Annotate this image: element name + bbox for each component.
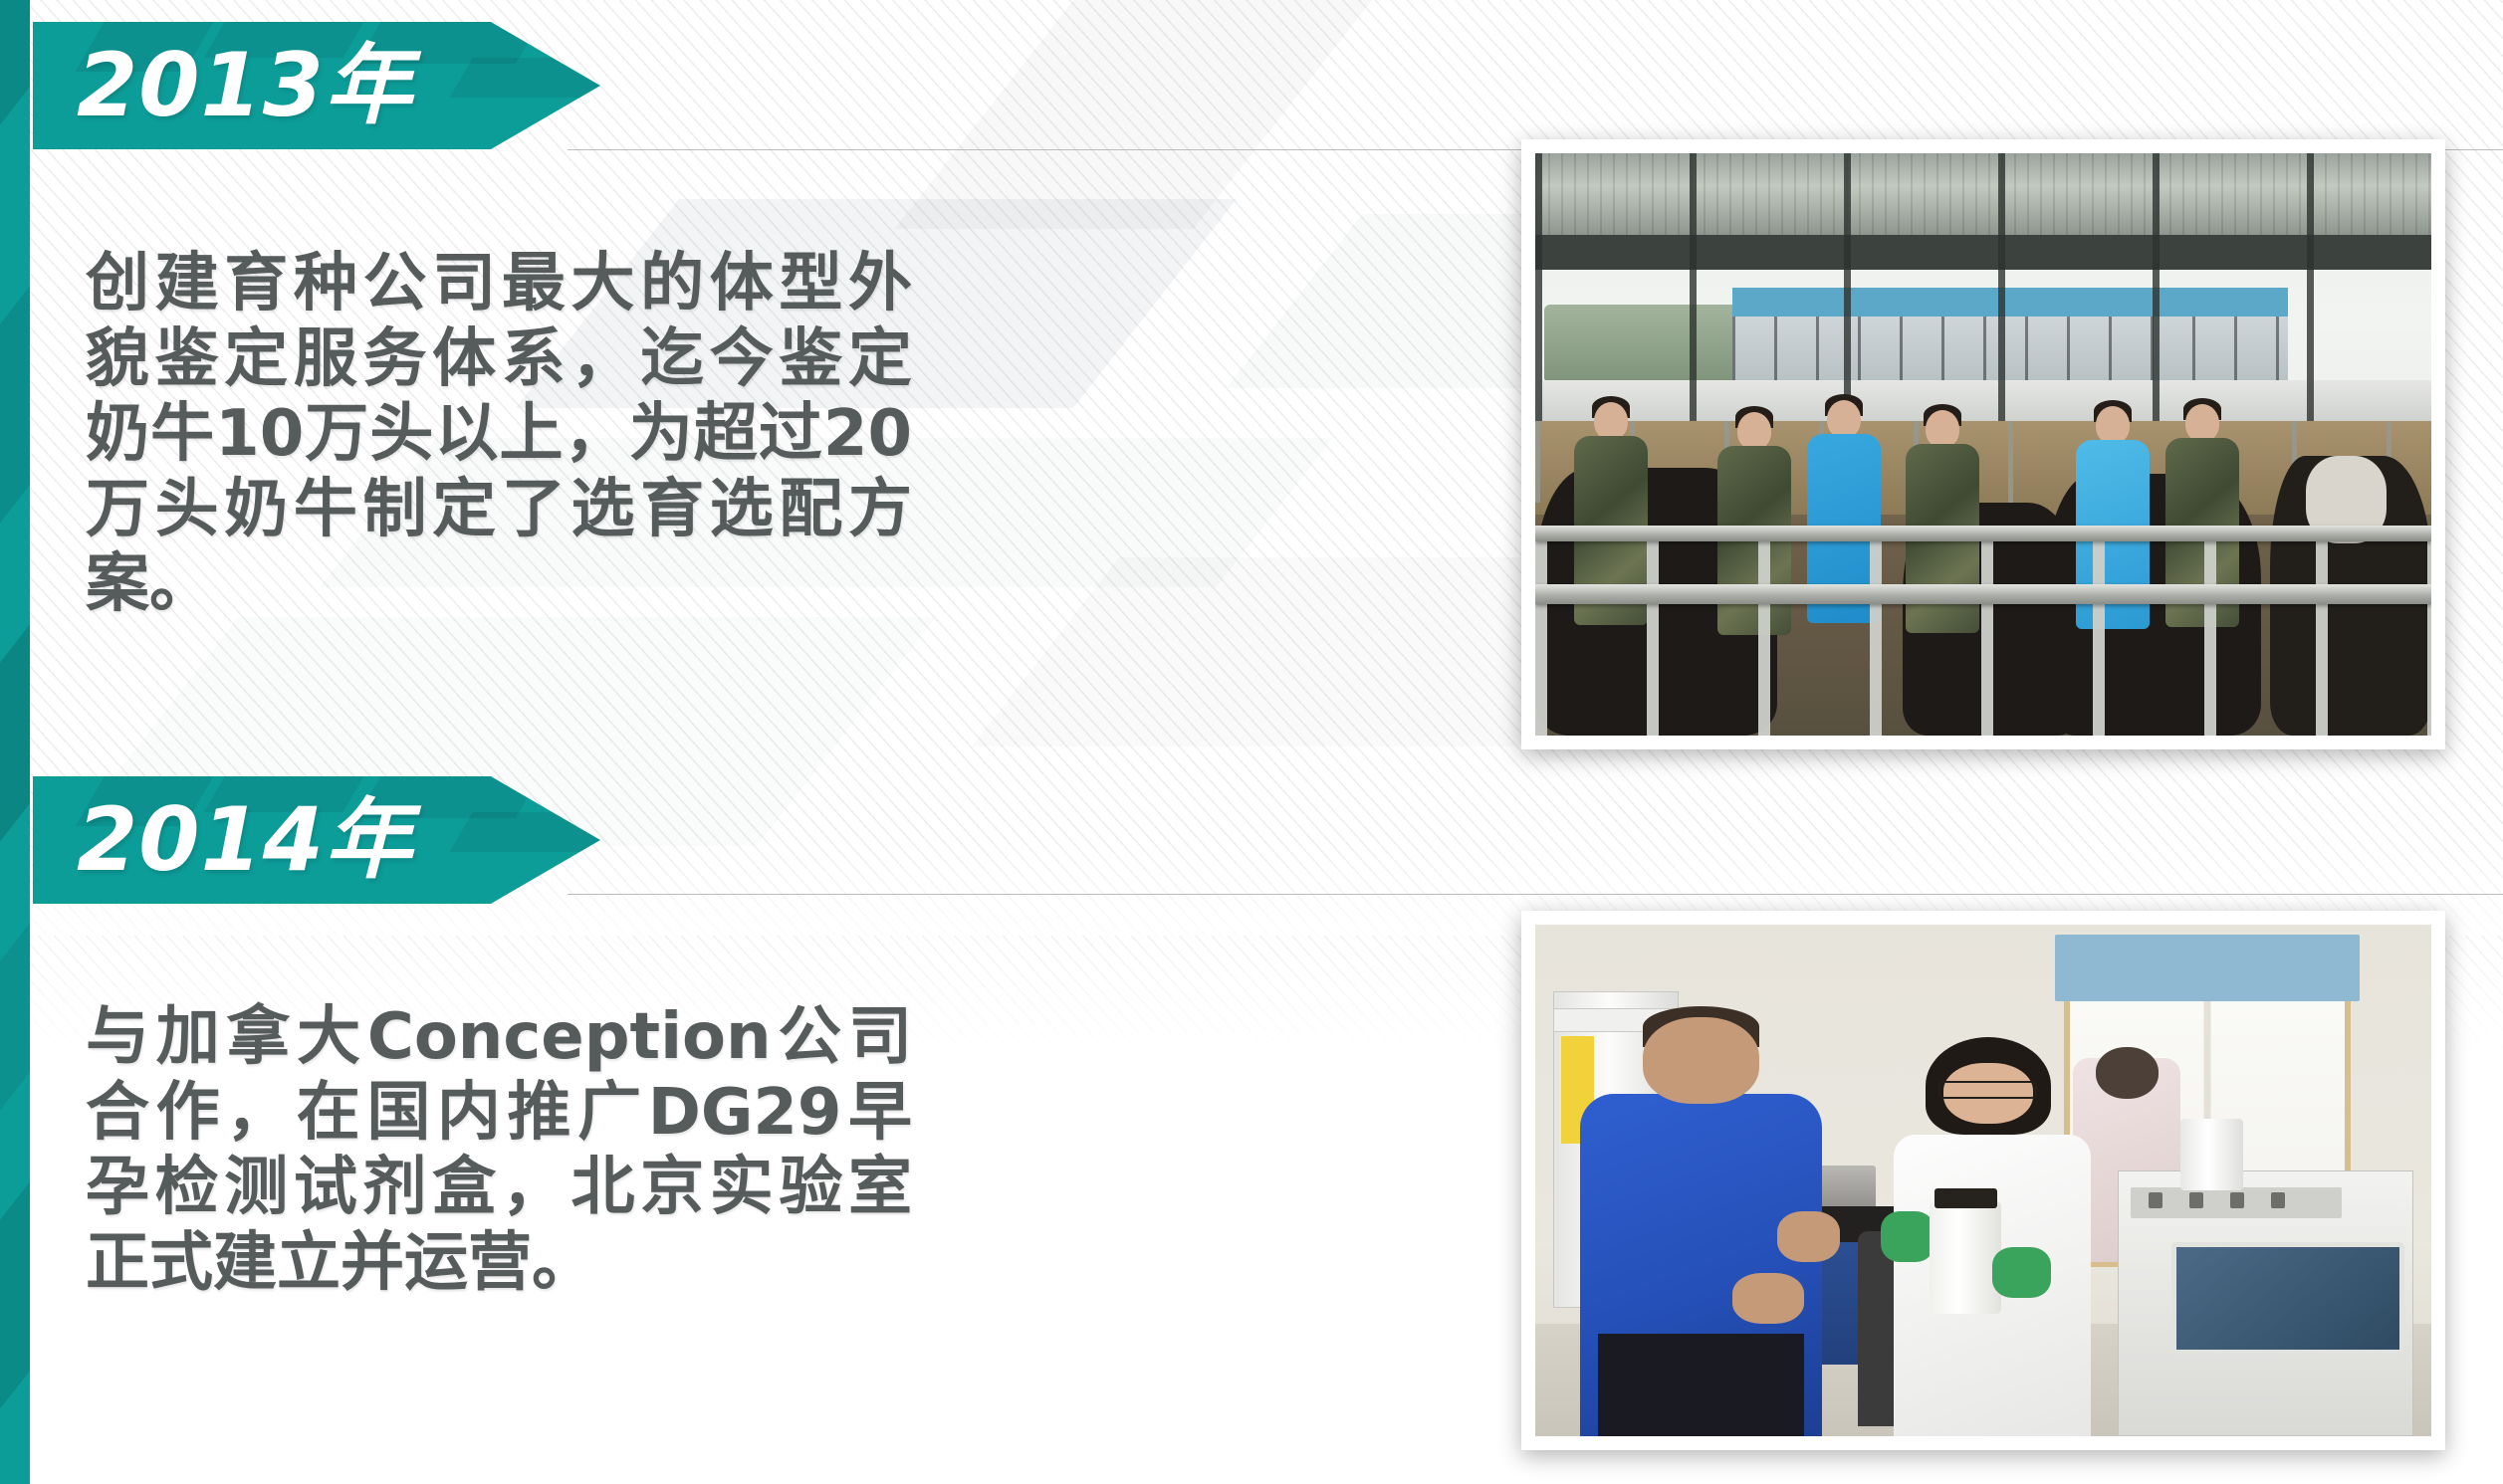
inspector-person-1 [1571, 402, 1651, 631]
laboratory-meeting-photo [1521, 911, 2445, 1450]
person-torso [1574, 436, 1648, 625]
year-label-2014: 2014年 [77, 796, 413, 884]
body-text-2014: 与加拿大Conception公司合作，在国内推广DG29早孕检测试剂盒，北京实验… [86, 1000, 912, 1301]
timeline-slide: 2013年 创建育种公司最大的体型外貌鉴定服务体系，迄今鉴定奶牛10万头以上，为… [0, 0, 2503, 1484]
green-glove-right [1992, 1247, 2051, 1298]
body-text-2013: 创建育种公司最大的体型外貌鉴定服务体系，迄今鉴定奶牛10万头以上，为超过20万头… [86, 247, 912, 623]
lab-white-container [2180, 1119, 2243, 1190]
lab-window [2064, 951, 2351, 1268]
person-torso [1906, 444, 1979, 633]
lab-analyzer-port-4 [2271, 1192, 2285, 1208]
barn-ground [1535, 421, 2431, 736]
year-banner-2013: 2013年 [33, 22, 600, 149]
person-head [1737, 412, 1771, 450]
barn-roof [1535, 153, 2431, 238]
blue-shirt-man-legs [1598, 1334, 1804, 1436]
barn-sky [1535, 153, 2431, 421]
barn-trees [1544, 305, 1759, 380]
barn-fence-rail-middle [1535, 584, 2431, 604]
green-glove-left [1881, 1211, 1934, 1262]
lab-window-mullion [2204, 956, 2211, 1262]
person-hair [2094, 400, 2132, 422]
lab-analyzer-machine [2118, 1170, 2413, 1436]
barn-low-wall [1535, 380, 2431, 423]
blue-shirt-man-hand-lower [1732, 1273, 1804, 1324]
inspector-person-5 [2073, 406, 2153, 631]
person-hair [1735, 406, 1773, 428]
lab-bench-top [1670, 1206, 1921, 1252]
banner-facet-4 [449, 58, 600, 98]
barn-distant-shed [1732, 317, 2288, 382]
blue-shirt-man-hair [1643, 1006, 1759, 1047]
lab-floor [1535, 1324, 2431, 1436]
cattle-barn-inspection-photo [1521, 139, 2445, 749]
blue-shirt-man-hand-upper [1777, 1211, 1840, 1262]
inspector-person-2 [1714, 412, 1794, 631]
person-head [2096, 406, 2130, 444]
person-torso [2165, 438, 2239, 627]
lab-chair [1858, 1231, 1930, 1425]
lab-coat-woman-torso [1894, 1135, 2091, 1436]
laboratory-photo-canvas [1535, 925, 2431, 1436]
lab-analyzer-panel [2131, 1187, 2342, 1219]
person-head [2185, 404, 2219, 442]
lab-window-blind [2055, 935, 2360, 1001]
background-polygon-2 [894, 0, 1395, 229]
lab-monitor-screen [2171, 1242, 2404, 1355]
person-hair [2183, 398, 2221, 420]
person-head [1827, 400, 1861, 438]
inspector-person-6 [2162, 404, 2242, 631]
person-hair [1825, 394, 1863, 416]
cattle-barn-photo-canvas [1535, 153, 2431, 736]
blue-shirt-man-head [1643, 1017, 1759, 1104]
person-head [1594, 402, 1628, 440]
barn-distant-shed-posts [1732, 317, 2288, 380]
banner-facet-4 [449, 812, 600, 852]
accent-bar-facet-5 [0, 1144, 30, 1434]
lab-coat-woman-hair [1926, 1037, 2051, 1135]
person-torso [1717, 446, 1791, 635]
lab-analyzer-port-3 [2230, 1192, 2244, 1208]
lab-blue-cabinet [1670, 1242, 1903, 1365]
person-torso [1807, 434, 1881, 623]
accent-bar-facet-4 [0, 885, 30, 1136]
year-label-2013: 2013年 [77, 42, 413, 129]
lab-printer [1732, 1166, 1876, 1211]
dairy-cow-4 [2270, 456, 2431, 736]
barn-truss-beam [1535, 235, 2431, 270]
year-banner-2014: 2014年 [33, 776, 600, 904]
dairy-cow-1 [1535, 468, 1777, 736]
blue-shirt-man-torso [1580, 1094, 1822, 1436]
white-reagent-bottle [1930, 1201, 2001, 1314]
dairy-cow-3 [2046, 474, 2261, 736]
person-hair [1924, 404, 1961, 426]
lab-coat-woman-glasses [1938, 1081, 2037, 1099]
divider-line-2014 [568, 894, 2503, 895]
accent-bar-facet-3 [0, 586, 30, 867]
inspector-person-4 [1903, 410, 1982, 631]
lab-analyzer-port-1 [2149, 1192, 2162, 1208]
inspector-person-3 [1804, 400, 1884, 631]
lab-analyzer-port-2 [2189, 1192, 2203, 1208]
barn-fence-rail-top [1535, 526, 2431, 541]
person-torso [2076, 440, 2150, 629]
lab-refrigerator [1553, 991, 1679, 1309]
background-person-torso [2073, 1058, 2180, 1263]
lab-refrigerator-label [1554, 1008, 1678, 1032]
lab-coat-woman-face [1943, 1063, 2033, 1125]
dairy-cow-2 [1903, 503, 2082, 736]
person-hair [1592, 396, 1630, 418]
white-reagent-bottle-cap [1934, 1188, 1997, 1209]
accent-bar-facet-2 [0, 248, 30, 548]
barn-feed-alley [1535, 421, 2431, 515]
barn-distant-building [1768, 305, 1831, 374]
barn-fence-posts [1535, 526, 2431, 736]
lab-refrigerator-warning-sticker [1561, 1036, 1593, 1144]
accent-bar-facet-1 [0, 0, 30, 150]
barn-roof-ribs [1535, 153, 2431, 235]
barn-free-stall-loops [1535, 421, 2431, 503]
barn-distant-blue-roof [1732, 288, 2288, 317]
left-accent-bar [0, 0, 30, 1484]
background-person-head [2096, 1047, 2159, 1098]
person-head [1926, 410, 1959, 448]
lab-wall [1535, 925, 2431, 1436]
barn-steel-columns [1535, 153, 2431, 421]
dairy-cow-white-patch [2306, 456, 2387, 543]
